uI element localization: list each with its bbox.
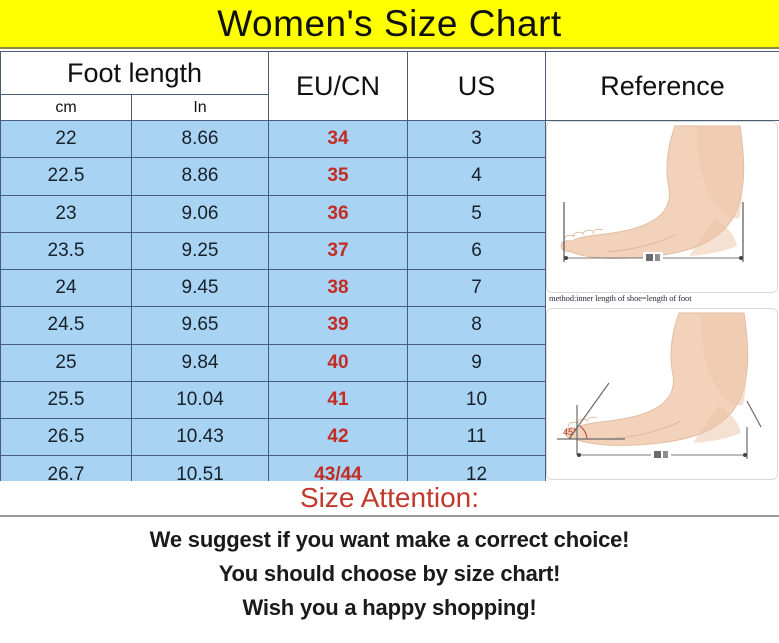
table-body: 22 8.66 34 3 [1, 121, 779, 494]
cell-eu-cn: 34 [269, 121, 408, 158]
foot-diagram-two: 45° [546, 308, 778, 480]
header-reference: Reference [546, 52, 779, 121]
cell-cm: 24 [1, 270, 132, 307]
cell-cm: 25.5 [1, 381, 132, 418]
header-eu-cn: EU/CN [269, 52, 408, 121]
size-chart-table: Foot length EU/CN US Reference cm In 22 … [0, 51, 779, 494]
cell-cm: 23.5 [1, 232, 132, 269]
foot-side-view-icon [547, 122, 778, 293]
cell-eu-cn: 38 [269, 270, 408, 307]
cell-cm: 23 [1, 195, 132, 232]
cell-in: 9.06 [132, 195, 269, 232]
cell-in: 10.43 [132, 419, 269, 456]
cell-us: 5 [408, 195, 546, 232]
cell-us: 11 [408, 419, 546, 456]
cell-in: 9.45 [132, 270, 269, 307]
page-title: Women's Size Chart [217, 5, 561, 42]
cell-reference: method:inner length of shoe=length of fo… [546, 121, 779, 494]
cell-us: 3 [408, 121, 546, 158]
cell-us: 9 [408, 344, 546, 381]
cell-cm: 22.5 [1, 158, 132, 195]
foot-diagram-one-caption: method:inner length of shoe=length of fo… [546, 293, 778, 305]
cell-in: 10.04 [132, 381, 269, 418]
header-us: US [408, 52, 546, 121]
cell-us: 4 [408, 158, 546, 195]
foot-angle-view-icon: 45° [547, 309, 778, 480]
cell-us: 6 [408, 232, 546, 269]
cell-cm: 24.5 [1, 307, 132, 344]
size-attention-bar: Size Attention: [0, 481, 779, 517]
cell-eu-cn: 39 [269, 307, 408, 344]
cell-in: 9.65 [132, 307, 269, 344]
cell-cm: 26.5 [1, 419, 132, 456]
cell-in: 9.25 [132, 232, 269, 269]
reference-diagrams: method:inner length of shoe=length of fo… [546, 121, 778, 493]
cell-eu-cn: 42 [269, 419, 408, 456]
header-in: In [132, 95, 269, 121]
angle-label: 45° [563, 427, 577, 437]
cell-in: 8.66 [132, 121, 269, 158]
table-row: 22 8.66 34 3 [1, 121, 779, 158]
header-row-main: Foot length EU/CN US Reference [1, 52, 779, 95]
title-banner: Women's Size Chart [0, 0, 779, 49]
cell-us: 7 [408, 270, 546, 307]
table-header: Foot length EU/CN US Reference cm In [1, 52, 779, 121]
size-chart-page: Women's Size Chart Foot length EU/CN US … [0, 0, 779, 643]
size-notes: We suggest if you want make a correct ch… [0, 523, 779, 625]
cell-us: 10 [408, 381, 546, 418]
cell-cm: 25 [1, 344, 132, 381]
header-foot-length: Foot length [1, 52, 269, 95]
cell-in: 8.86 [132, 158, 269, 195]
cell-eu-cn: 36 [269, 195, 408, 232]
cell-eu-cn: 41 [269, 381, 408, 418]
cell-eu-cn: 37 [269, 232, 408, 269]
cell-eu-cn: 40 [269, 344, 408, 381]
header-cm: cm [1, 95, 132, 121]
cell-us: 8 [408, 307, 546, 344]
note-line: Wish you a happy shopping! [0, 591, 779, 625]
cell-cm: 22 [1, 121, 132, 158]
cell-in: 9.84 [132, 344, 269, 381]
note-line: We suggest if you want make a correct ch… [0, 523, 779, 557]
foot-diagram-one [546, 121, 778, 293]
size-attention-heading: Size Attention: [300, 484, 479, 512]
cell-eu-cn: 35 [269, 158, 408, 195]
note-line: You should choose by size chart! [0, 557, 779, 591]
